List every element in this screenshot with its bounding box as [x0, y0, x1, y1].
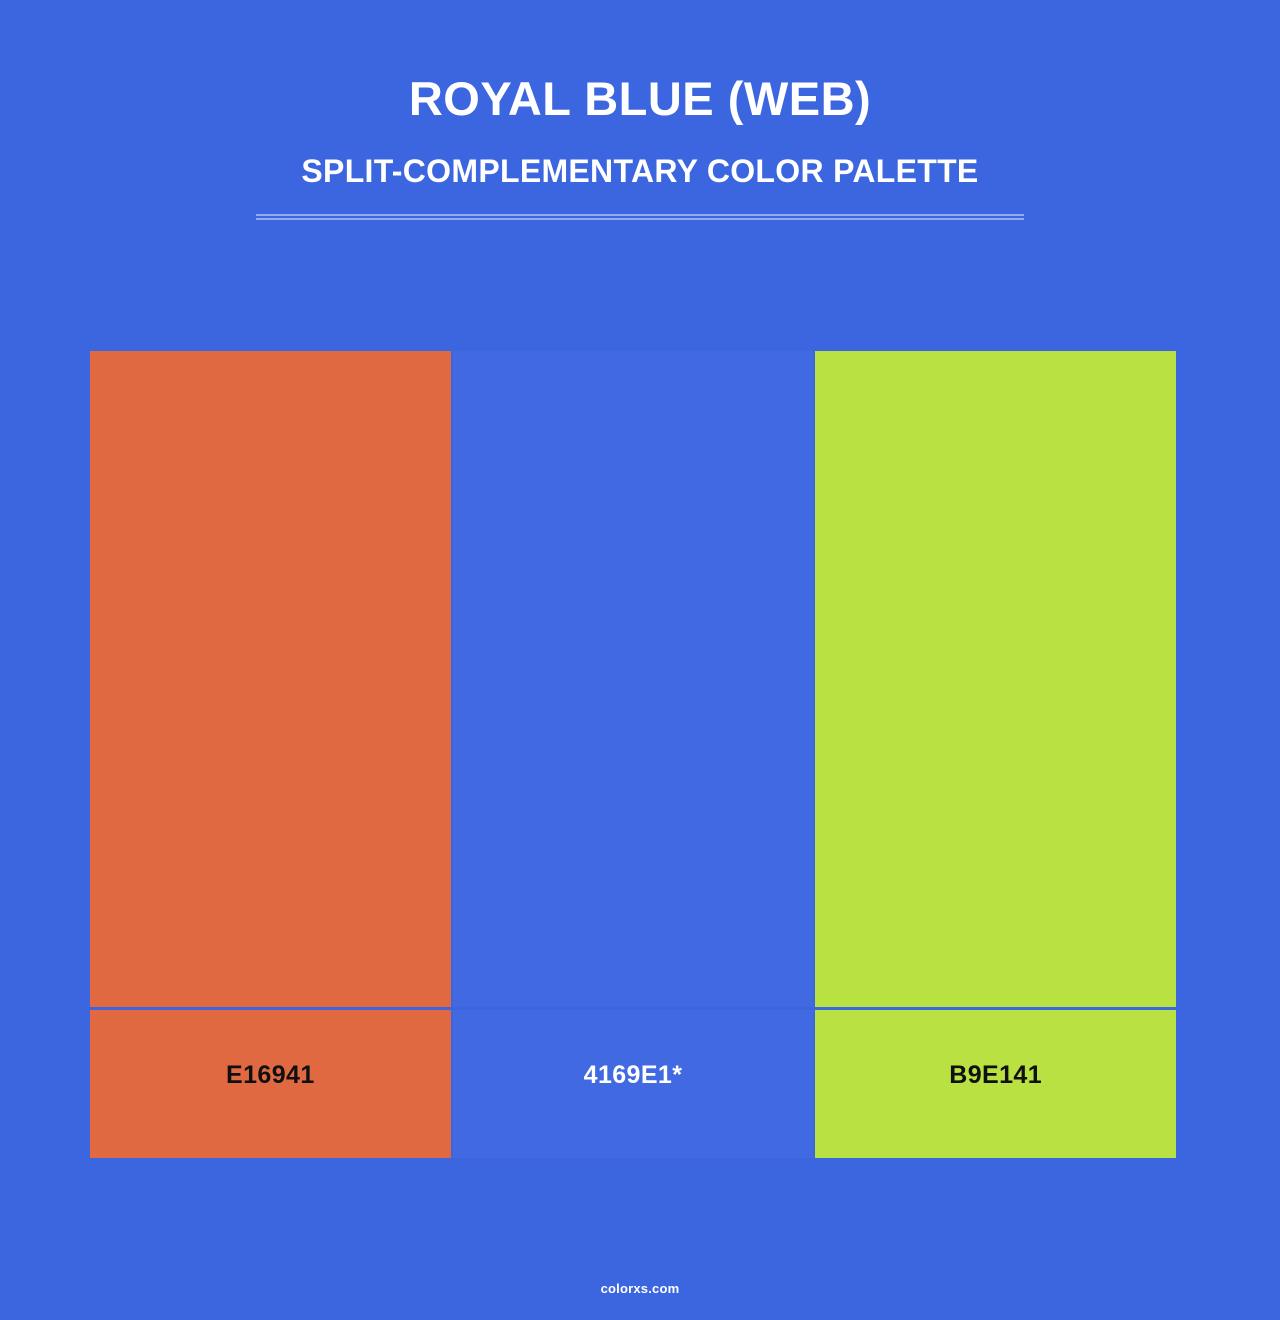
swatch-row [90, 351, 1176, 1007]
color-swatch-label-cell[interactable]: B9E141 [815, 1010, 1176, 1158]
color-swatch[interactable] [90, 351, 451, 1007]
hex-code-label: 4169E1* [584, 1061, 683, 1090]
page-subtitle: SPLIT-COMPLEMENTARY COLOR PALETTE [0, 153, 1280, 190]
page-title: ROYAL BLUE (WEB) [0, 72, 1280, 126]
page-footer: colorxs.com [0, 1280, 1280, 1298]
color-swatch[interactable] [453, 351, 814, 1007]
color-palette: E16941 4169E1* B9E141 [90, 351, 1176, 1158]
color-swatch-label-cell[interactable]: E16941 [90, 1010, 451, 1158]
hex-code-label: E16941 [226, 1061, 315, 1090]
page-header: ROYAL BLUE (WEB) SPLIT-COMPLEMENTARY COL… [0, 0, 1280, 220]
color-swatch[interactable] [815, 351, 1176, 1007]
header-divider [256, 214, 1024, 220]
color-swatch-label-cell[interactable]: 4169E1* [453, 1010, 814, 1158]
swatch-label-row: E16941 4169E1* B9E141 [90, 1010, 1176, 1158]
hex-code-label: B9E141 [949, 1061, 1042, 1090]
site-watermark: colorxs.com [601, 1281, 680, 1296]
